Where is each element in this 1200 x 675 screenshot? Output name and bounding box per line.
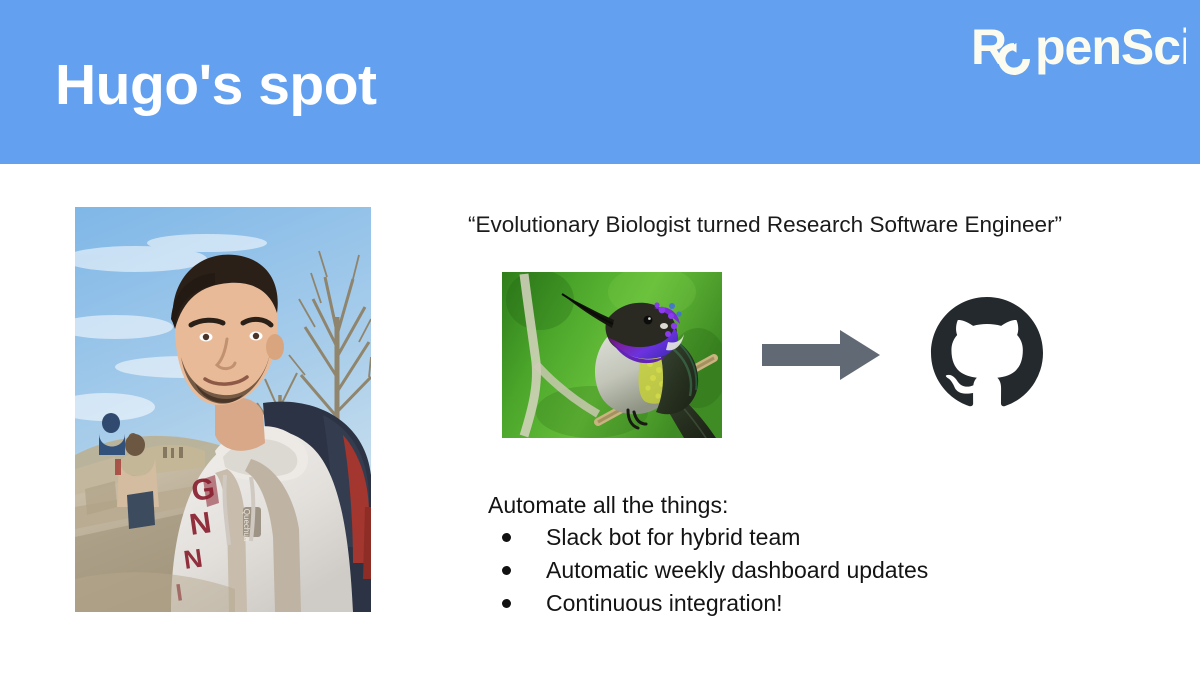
slide: Hugo's spot R penSci <box>0 0 1200 675</box>
bullet-dot-icon <box>502 599 511 608</box>
github-logo <box>928 297 1046 409</box>
list-item: Slack bot for hybrid team <box>488 523 928 551</box>
hummingbird-photo-svg <box>502 272 722 438</box>
circular-arrow-icon <box>998 43 1030 75</box>
github-icon <box>928 297 1046 409</box>
svg-text:N: N <box>187 506 213 542</box>
quote-text: “Evolutionary Biologist turned Research … <box>468 210 1062 239</box>
portrait-photo-svg: Quechua G N N I <box>75 207 371 612</box>
bullet-dot-icon <box>502 566 511 575</box>
ropensci-logo: R penSci <box>971 22 1186 84</box>
ropensci-logo-svg: R penSci <box>971 22 1186 84</box>
bullet-dot-icon <box>502 533 511 542</box>
hummingbird-photo <box>502 272 722 438</box>
automation-list: Automate all the things: Slack bot for h… <box>488 491 928 622</box>
list-item-label: Continuous integration! <box>546 590 783 616</box>
list-item: Automatic weekly dashboard updates <box>488 556 928 584</box>
automation-items: Slack bot for hybrid team Automatic week… <box>488 523 928 617</box>
list-item-label: Slack bot for hybrid team <box>546 524 800 550</box>
logo-wordmark: penSci <box>1035 22 1186 75</box>
right-arrow-icon <box>762 330 880 380</box>
page-title: Hugo's spot <box>55 56 377 116</box>
portrait-photo: Quechua G N N I <box>75 207 371 612</box>
list-item-label: Automatic weekly dashboard updates <box>546 557 928 583</box>
automation-lead: Automate all the things: <box>488 491 928 519</box>
list-item: Continuous integration! <box>488 589 928 617</box>
right-arrow <box>762 330 880 380</box>
